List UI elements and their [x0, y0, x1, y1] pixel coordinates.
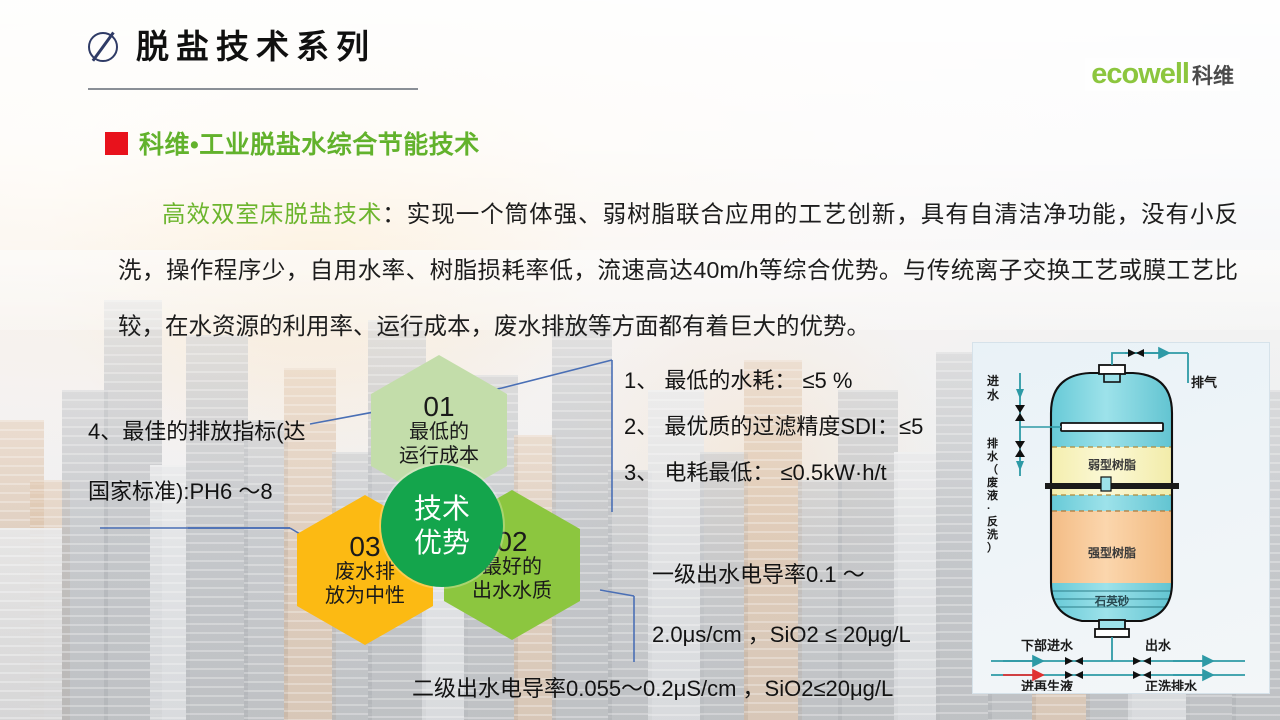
hexagon-01-number: 01 — [423, 392, 454, 422]
hexagon-01-line1: 最低的 — [409, 421, 469, 445]
logo-wordmark: ecowell — [1091, 60, 1189, 89]
diagram-label-rinse-drain: 正洗排水 — [1145, 679, 1198, 691]
hexagon-03-line2: 放为中性 — [325, 585, 405, 609]
hexagon-03-line1: 废水排 — [335, 561, 395, 585]
title-divider — [88, 88, 418, 90]
hexagon-03-number: 03 — [349, 532, 380, 562]
vessel-diagram: 进水 排水（废液·反洗） 排气 弱型树脂 强型树脂 石英砂 下部进水 出水 进再… — [972, 342, 1270, 694]
advantages-list: 1、 最低的水耗： ≤5 % 2、 最优质的过滤精度SDI：≤5 3、 电耗最低… — [624, 358, 974, 496]
page-title: 脱盐技术系列 — [136, 30, 376, 63]
center-line1: 技术 — [414, 492, 470, 526]
primary-effluent-note-line1: 一级出水电导率0.1 ～ — [652, 548, 865, 602]
red-square-bullet-icon — [105, 132, 128, 155]
vessel-diagram-svg: 进水 排水（废液·反洗） 排气 弱型树脂 强型树脂 石英砂 下部进水 出水 进再… — [973, 343, 1267, 691]
list-item: 2、 最优质的过滤精度SDI：≤5 — [624, 404, 974, 450]
diagram-label-bottom-inlet: 下部进水 — [1021, 638, 1074, 653]
diagram-label-inlet: 进水 — [987, 373, 1000, 402]
section-subtitle: 科维•工业脱盐水综合节能技术 — [139, 125, 480, 161]
diagram-label-quartz-sand: 石英砂 — [1094, 594, 1130, 608]
secondary-effluent-note: 二级出水电导率0.055～0.2μS/cm ，SiO2≤20μg/L — [412, 667, 893, 711]
primary-effluent-note-line2: 2.0μs/cm ，SiO2 ≤ 20μg/L — [652, 608, 911, 662]
body-paragraph: 高效双室床脱盐技术：实现一个筒体强、弱树脂联合应用的工艺创新，具有自清洁净功能，… — [118, 186, 1238, 354]
center-line2: 优势 — [414, 526, 470, 560]
slide-title-row: 脱盐技术系列 — [88, 30, 376, 63]
list-item: 3、 电耗最低： ≤0.5kW·h/t — [624, 450, 974, 496]
discharge-note-line1: 4、最佳的排放指标(达 — [88, 402, 358, 462]
diagram-label-drain: 排水（废液·反洗） — [987, 436, 999, 554]
section-subtitle-row: 科维•工业脱盐水综合节能技术 — [105, 125, 480, 161]
discharge-note-line2: 国家标准):PH6 ～8 — [88, 462, 358, 522]
logo-chinese-name: 科维 — [1192, 66, 1234, 89]
hexagon-02-line2: 出水水质 — [472, 580, 552, 604]
hexagon-center-circle[interactable]: 技术 优势 — [381, 465, 503, 587]
diagram-label-weak-resin: 弱型树脂 — [1088, 457, 1136, 472]
brand-logo: ecowell 科维 — [1085, 58, 1240, 91]
paragraph-highlight: 高效双室床脱盐技术 — [162, 201, 382, 227]
discharge-index-note: 4、最佳的排放指标(达 国家标准):PH6 ～8 — [88, 402, 358, 522]
slashed-circle-icon — [88, 32, 118, 62]
diagram-label-vent: 排气 — [1191, 375, 1217, 390]
diagram-label-regen-inlet: 进再生液 — [1021, 679, 1073, 691]
diagram-label-strong-resin: 强型树脂 — [1088, 545, 1136, 560]
diagram-label-outlet: 出水 — [1145, 638, 1172, 653]
slide-root: 脱盐技术系列 ecowell 科维 科维•工业脱盐水综合节能技术 高效双室床脱盐… — [0, 0, 1280, 720]
list-item: 1、 最低的水耗： ≤5 % — [624, 358, 974, 404]
